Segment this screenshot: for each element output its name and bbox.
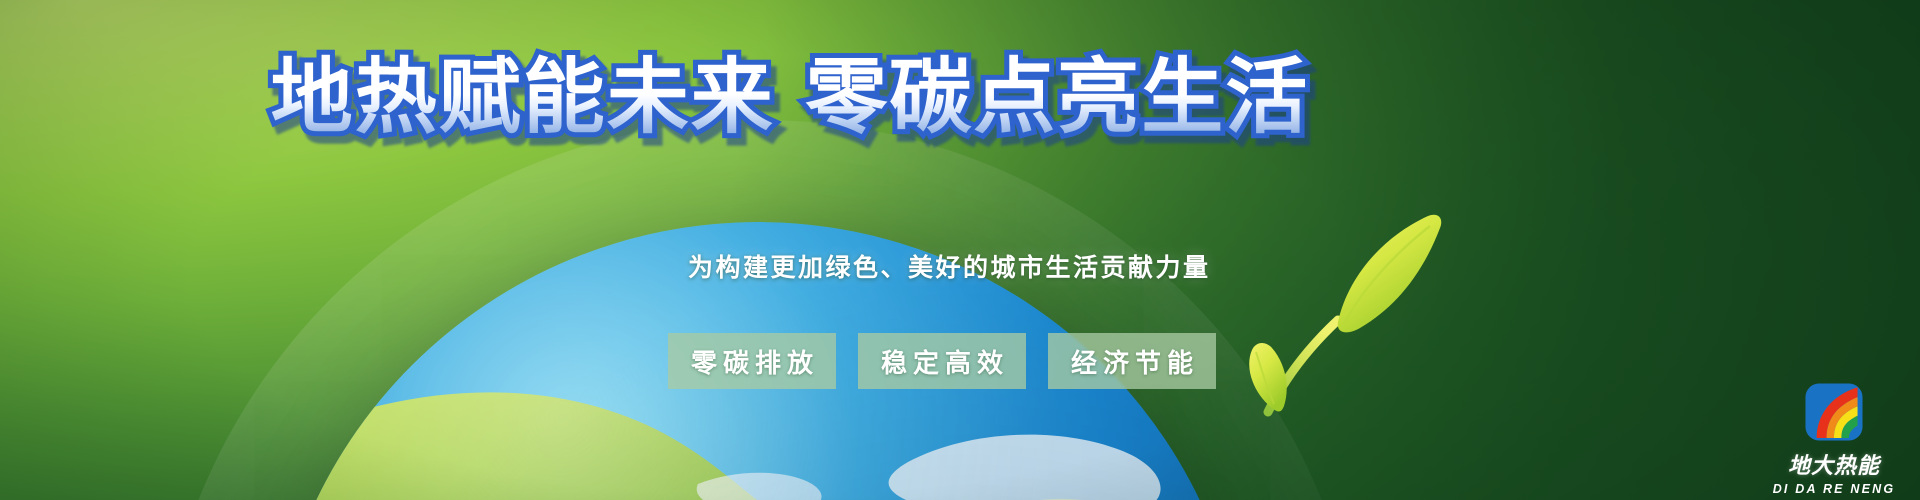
promo-banner: 地热赋能未来 零碳点亮生活 地热赋能未来 零碳点亮生活 地热赋能未来 零碳点亮生… <box>0 0 1920 500</box>
plant-sprout-icon <box>1232 150 1532 460</box>
company-logo[interactable]: 地大热能 DI DA RE NENG <box>1768 381 1900 496</box>
feature-badge-list: 零碳排放 稳定高效 经济节能 <box>668 333 1216 389</box>
logo-name-en: DI DA RE NENG <box>1773 482 1896 496</box>
badge-stable-efficient[interactable]: 稳定高效 <box>858 333 1026 389</box>
badge-zero-carbon[interactable]: 零碳排放 <box>668 333 836 389</box>
rainbow-swoosh-logo-icon <box>1803 381 1865 443</box>
subtitle: 为构建更加绿色、美好的城市生活贡献力量 <box>688 248 1211 284</box>
logo-name-cn: 地大热能 <box>1788 448 1880 480</box>
badge-economical[interactable]: 经济节能 <box>1048 333 1216 389</box>
